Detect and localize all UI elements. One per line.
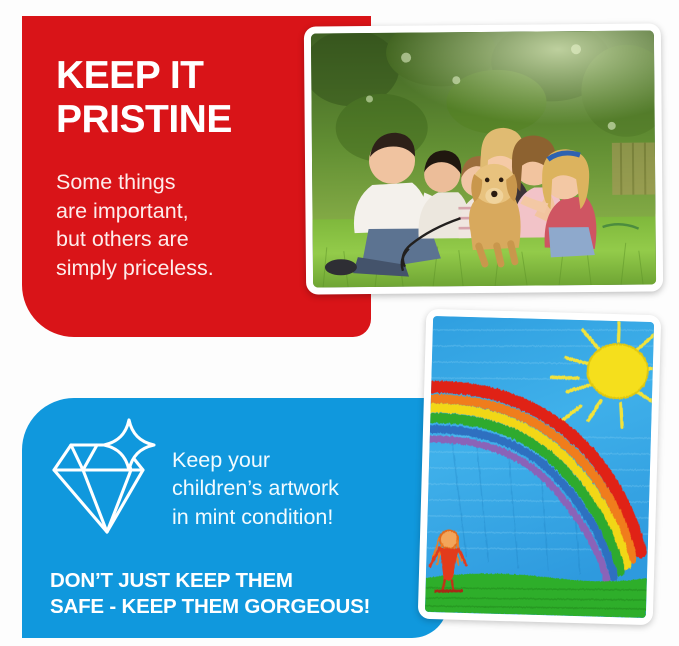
red-subtext-line-3: but others are	[56, 225, 336, 254]
family-with-dog-photo	[311, 31, 656, 288]
sparkle-icon	[104, 420, 154, 470]
blue-body-line-2: children’s artwork	[172, 474, 422, 502]
diamond-sparkle-icon	[50, 418, 160, 542]
childrens-crayon-rainbow-drawing	[425, 316, 654, 618]
blue-tagline-line-2: SAFE - KEEP THEM GORGEOUS!	[50, 594, 430, 620]
blue-tagline-line-1: DON’T JUST KEEP THEM	[50, 568, 430, 594]
red-headline-line-1: KEEP IT	[56, 54, 346, 98]
blue-tagline: DON’T JUST KEEP THEM SAFE - KEEP THEM GO…	[50, 568, 430, 620]
red-subtext: Some things are important, but others ar…	[56, 168, 336, 282]
photo-golden-retriever	[469, 164, 521, 264]
red-subtext-line-1: Some things	[56, 168, 336, 197]
red-headline-line-2: PRISTINE	[56, 98, 346, 142]
promo-banner: KEEP IT PRISTINE Some things are importa…	[0, 0, 679, 646]
red-subtext-line-4: simply priceless.	[56, 254, 336, 283]
red-headline: KEEP IT PRISTINE	[56, 54, 346, 141]
blue-body-line-3: in mint condition!	[172, 503, 422, 531]
blue-body-line-1: Keep your	[172, 446, 422, 474]
red-subtext-line-2: are important,	[56, 197, 336, 226]
family-photo-frame	[304, 23, 663, 294]
artwork-frame	[418, 309, 662, 625]
blue-body-text: Keep your children’s artwork in mint con…	[172, 446, 422, 531]
